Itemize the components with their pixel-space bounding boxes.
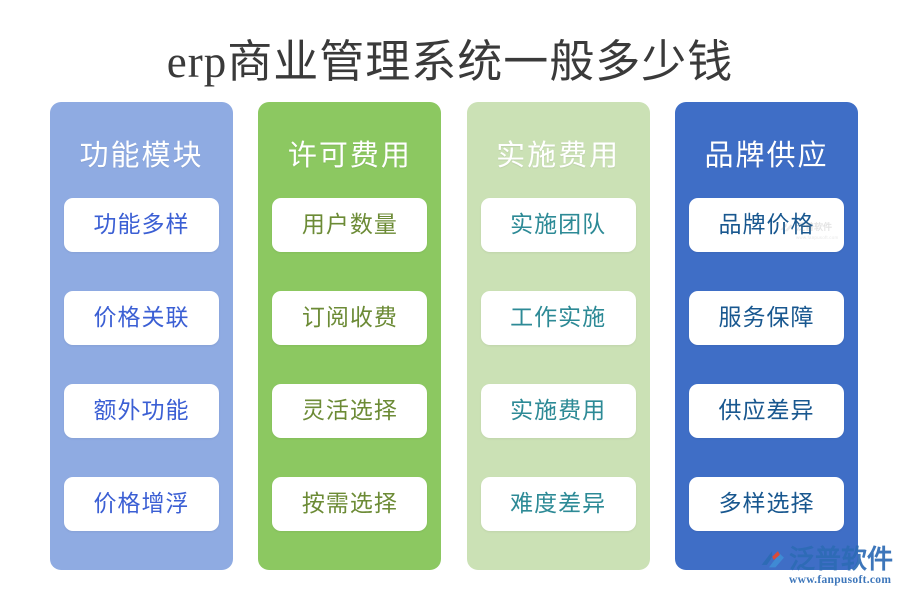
list-item[interactable]: 多样选择 (689, 477, 844, 531)
item-list-implementation-fee: 实施团队 工作实施 实施费用 难度差异 (467, 198, 650, 531)
list-item[interactable]: 灵活选择 (272, 384, 427, 438)
column-implementation-fee[interactable]: 实施费用 实施团队 工作实施 实施费用 难度差异 (467, 102, 650, 570)
list-item[interactable]: 价格增浮 (64, 477, 219, 531)
column-group: 功能模块 功能多样 价格关联 额外功能 价格增浮 许可费用 用户数量 订阅收费 … (50, 102, 858, 570)
column-header-function-module: 功能模块 (79, 139, 203, 173)
list-item[interactable]: 价格关联 (64, 291, 219, 345)
column-license-fee[interactable]: 许可费用 用户数量 订阅收费 灵活选择 按需选择 (258, 102, 441, 570)
column-function-module[interactable]: 功能模块 功能多样 价格关联 额外功能 价格增浮 (50, 102, 233, 570)
brand-watermark-url: www.fanpusoft.com (789, 574, 891, 587)
list-item[interactable]: 服务保障 (689, 291, 844, 345)
list-item[interactable]: 品牌价格 (689, 198, 844, 252)
list-item[interactable]: 订阅收费 (272, 291, 427, 345)
list-item[interactable]: 工作实施 (481, 291, 636, 345)
list-item[interactable]: 难度差异 (481, 477, 636, 531)
list-item[interactable]: 用户数量 (272, 198, 427, 252)
item-list-function-module: 功能多样 价格关联 额外功能 价格增浮 (50, 198, 233, 531)
slide-canvas: erp商业管理系统一般多少钱 功能模块 功能多样 价格关联 额外功能 价格增浮 … (0, 0, 900, 600)
list-item[interactable]: 实施费用 (481, 384, 636, 438)
column-brand-supply[interactable]: 品牌供应 品牌价格 服务保障 供应差异 多样选择 泛普软件 www.fanpus… (675, 102, 858, 570)
column-header-license-fee: 许可费用 (288, 139, 412, 173)
list-item[interactable]: 供应差异 (689, 384, 844, 438)
column-header-implementation-fee: 实施费用 (496, 139, 620, 173)
item-list-license-fee: 用户数量 订阅收费 灵活选择 按需选择 (258, 198, 441, 531)
column-header-brand-supply: 品牌供应 (704, 139, 828, 173)
list-item[interactable]: 功能多样 (64, 198, 219, 252)
page-title: erp商业管理系统一般多少钱 (0, 34, 900, 90)
list-item[interactable]: 按需选择 (272, 477, 427, 531)
item-list-brand-supply: 品牌价格 服务保障 供应差异 多样选择 (675, 198, 858, 531)
list-item[interactable]: 实施团队 (481, 198, 636, 252)
list-item[interactable]: 额外功能 (64, 384, 219, 438)
